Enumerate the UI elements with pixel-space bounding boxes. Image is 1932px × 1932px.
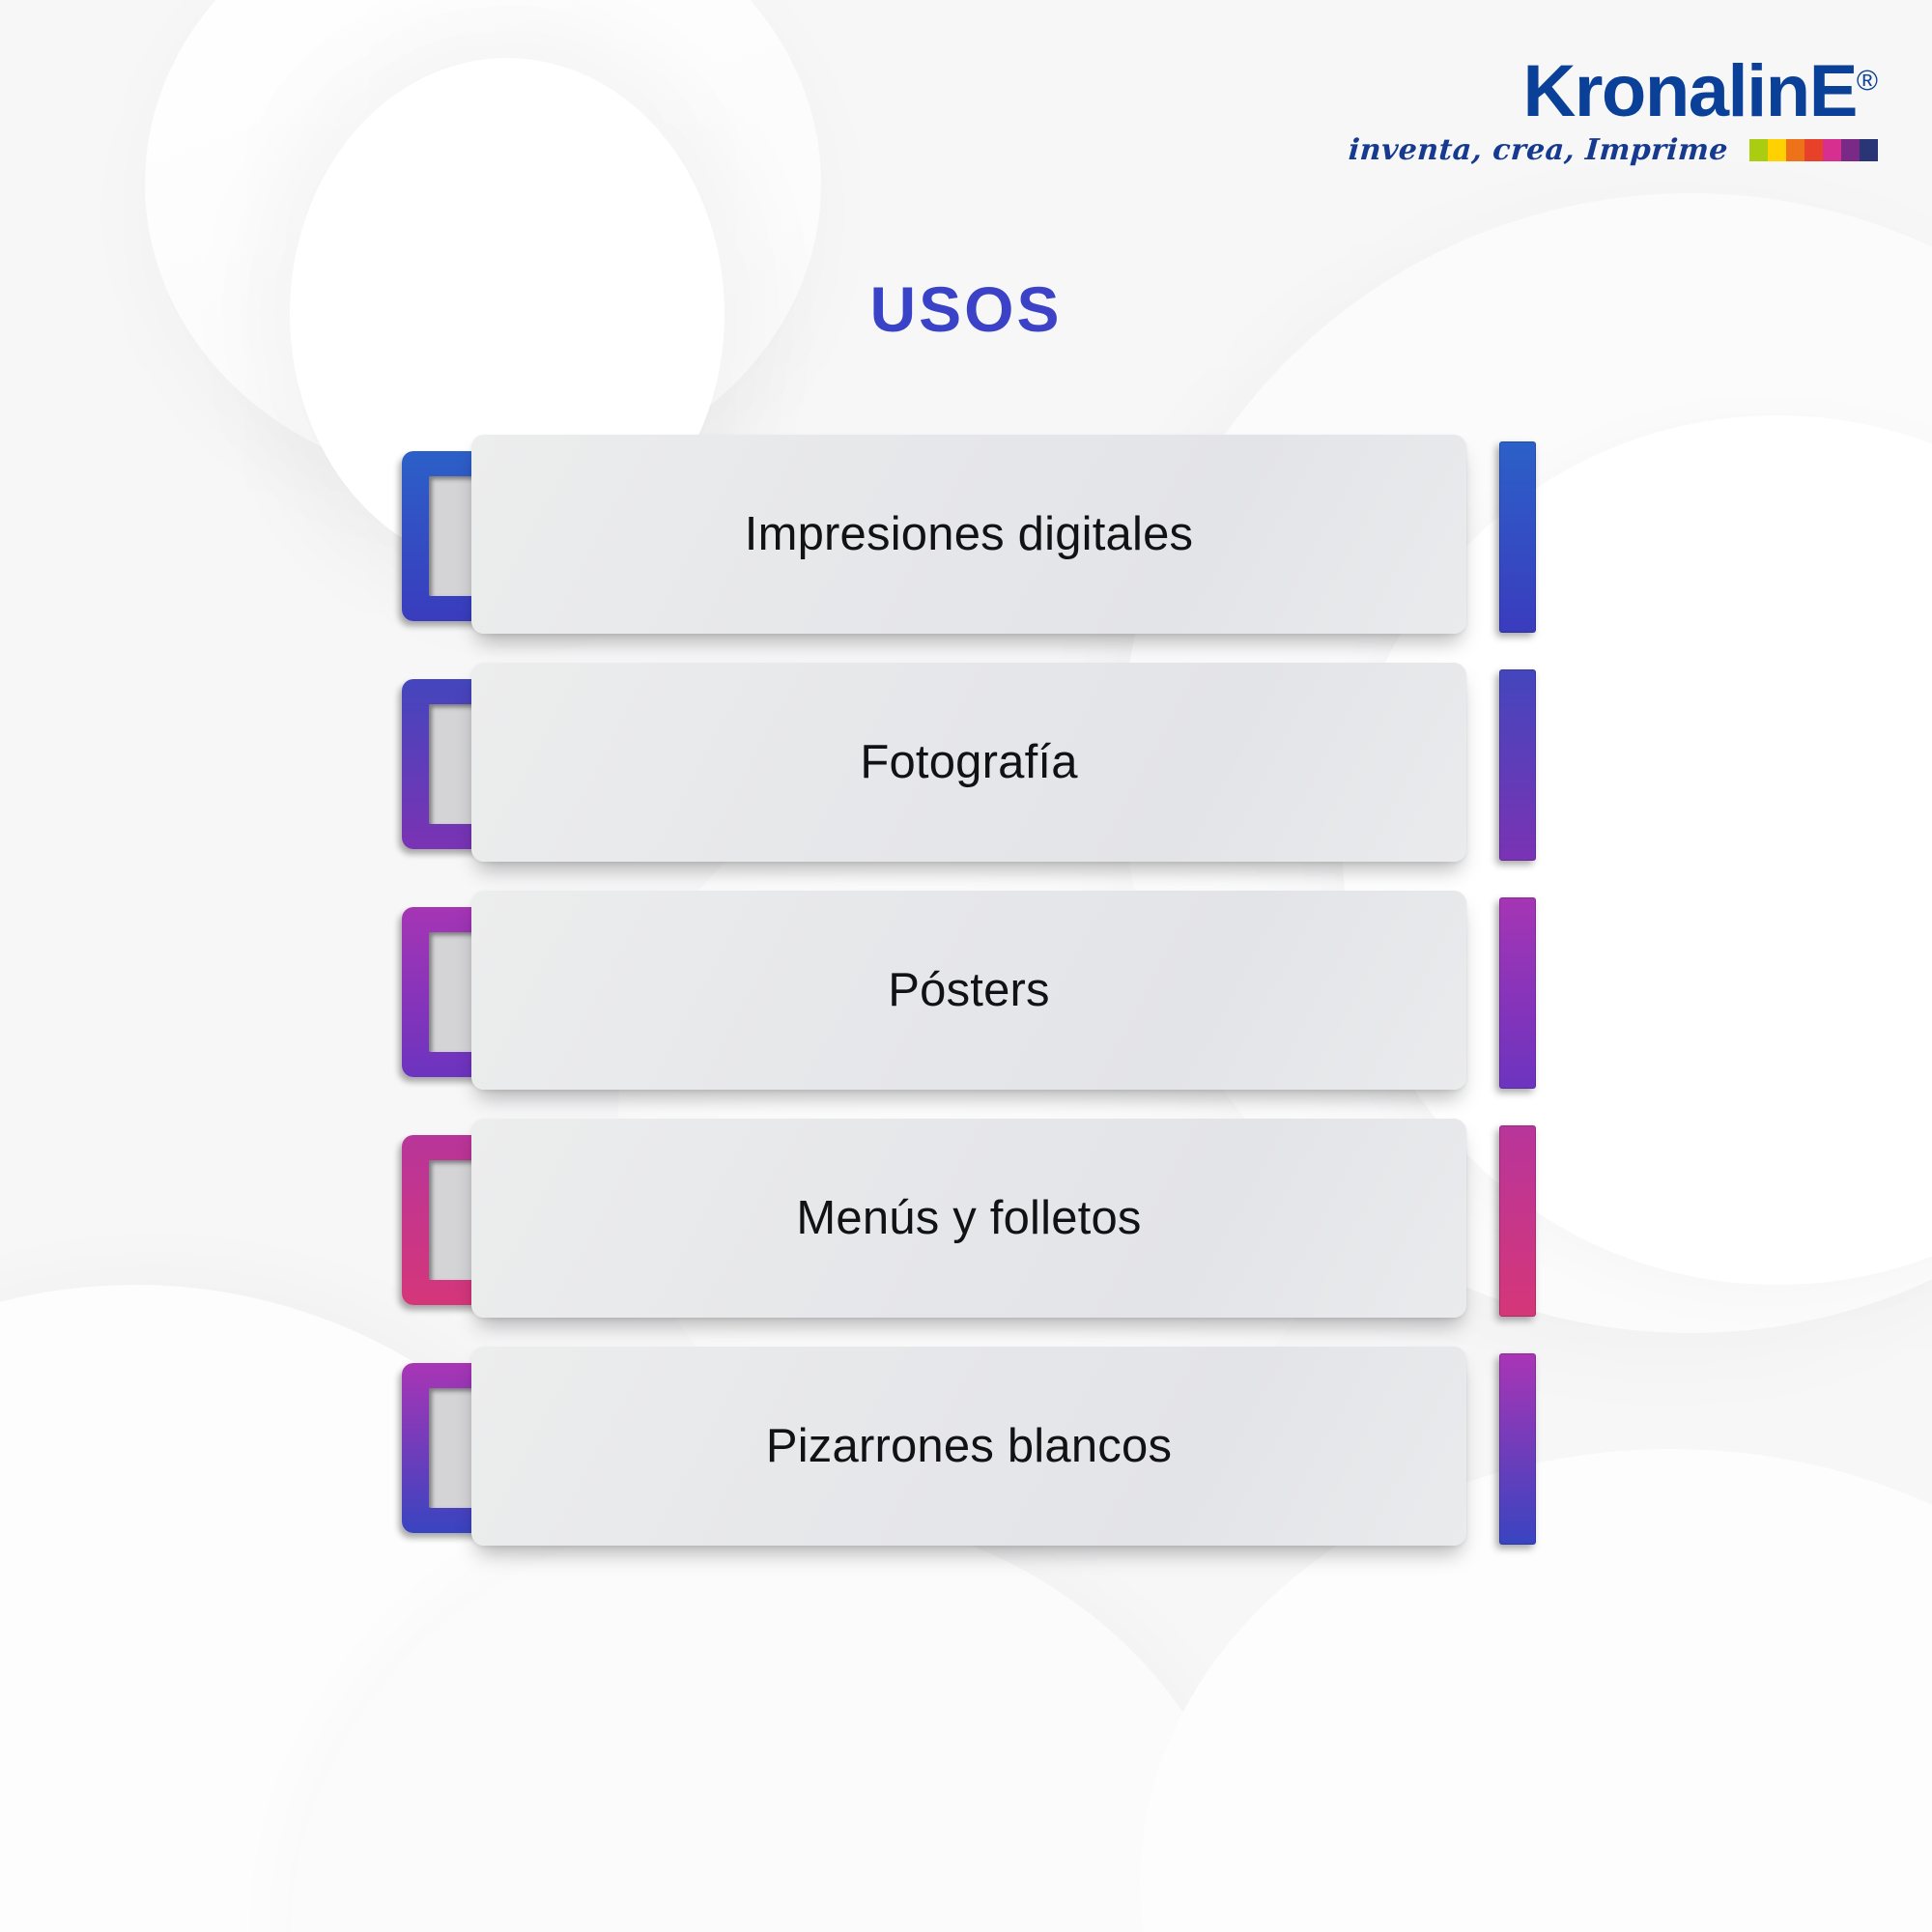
uses-card[interactable]: Pizarrones blancos (471, 1347, 1466, 1546)
card-right-accent-bar (1499, 1353, 1536, 1545)
uses-card-row[interactable]: Impresiones digitales (396, 435, 1536, 646)
card-right-accent-bar (1499, 897, 1536, 1089)
brand-subline: inventa, crea, Imprime (1349, 133, 1878, 167)
uses-card[interactable]: Fotografía (471, 663, 1466, 862)
brand-logo: KronalinE® inventa, crea, Imprime (1349, 56, 1878, 167)
uses-card-row[interactable]: Pizarrones blancos (396, 1347, 1536, 1558)
brand-tagline: inventa, crea, Imprime (1348, 133, 1729, 167)
uses-card-label: Pizarrones blancos (766, 1419, 1172, 1473)
uses-card-list: Impresiones digitalesFotografíaPóstersMe… (396, 435, 1536, 1558)
uses-card-label: Fotografía (860, 735, 1077, 789)
brand-swatch-3 (1786, 139, 1804, 161)
uses-card-label: Pósters (888, 963, 1050, 1017)
card-right-accent-bar (1499, 1125, 1536, 1317)
brand-wordmark: KronalinE® (1349, 56, 1878, 128)
brand-swatch-7 (1860, 139, 1878, 161)
brand-swatch-2 (1768, 139, 1786, 161)
uses-card[interactable]: Menús y folletos (471, 1119, 1466, 1318)
uses-card[interactable]: Pósters (471, 891, 1466, 1090)
brand-swatch-5 (1823, 139, 1841, 161)
card-right-accent-bar (1499, 441, 1536, 633)
brand-color-swatch-bar (1749, 139, 1878, 161)
uses-card-label: Menús y folletos (796, 1191, 1141, 1245)
brand-swatch-1 (1749, 139, 1768, 161)
registered-trademark-icon: ® (1857, 66, 1878, 98)
uses-card-label: Impresiones digitales (745, 507, 1193, 561)
card-right-accent-bar (1499, 669, 1536, 861)
brand-wordmark-text: KronalinE (1522, 50, 1856, 132)
uses-card-row[interactable]: Fotografía (396, 663, 1536, 874)
brand-swatch-6 (1841, 139, 1860, 161)
page-title: USOS (0, 272, 1932, 346)
uses-card-row[interactable]: Pósters (396, 891, 1536, 1102)
uses-card-row[interactable]: Menús y folletos (396, 1119, 1536, 1330)
uses-card[interactable]: Impresiones digitales (471, 435, 1466, 634)
brand-swatch-4 (1804, 139, 1823, 161)
